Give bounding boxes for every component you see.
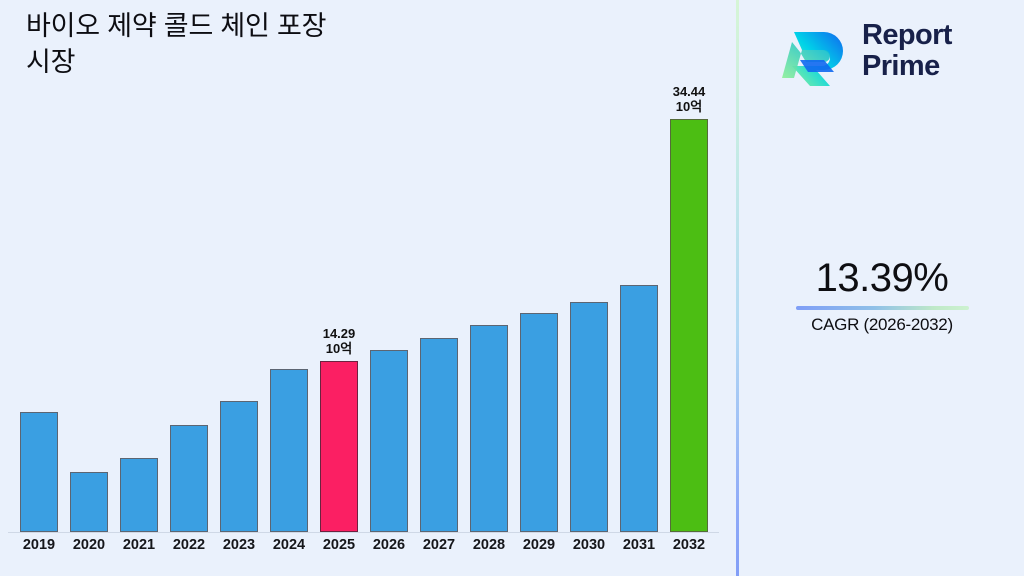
bar-rect-2025[interactable] (320, 361, 358, 532)
bar-2031[interactable] (620, 100, 658, 532)
bar-2027[interactable] (420, 100, 458, 532)
bar-rect-2031[interactable] (620, 285, 658, 532)
bar-2020[interactable] (70, 100, 108, 532)
x-tick-2029: 2029 (514, 537, 564, 553)
plot-area: 14.29 10억34.44 10억 (0, 100, 737, 533)
cagr-divider-rule (796, 306, 969, 310)
bar-rect-2029[interactable] (520, 313, 558, 532)
bar-2021[interactable] (120, 100, 158, 532)
bar-rect-2023[interactable] (220, 401, 258, 532)
x-tick-2019: 2019 (14, 537, 64, 553)
bar-rect-2030[interactable] (570, 302, 608, 532)
bar-2028[interactable] (470, 100, 508, 532)
brand-name: Report Prime (862, 20, 1012, 82)
chart-region: 바이오 제약 콜드 체인 포장 시장 14.29 10억34.44 10억 20… (0, 0, 737, 576)
x-tick-2020: 2020 (64, 537, 114, 553)
x-tick-2026: 2026 (364, 537, 414, 553)
bar-2032[interactable]: 34.44 10억 (670, 100, 708, 532)
page-title: 바이오 제약 콜드 체인 포장 시장 (26, 8, 666, 80)
x-tick-2025: 2025 (314, 537, 364, 553)
right-panel: Report Prime 13.39% CAGR (2026-2032) (740, 0, 1024, 576)
bar-2022[interactable] (170, 100, 208, 532)
x-tick-2030: 2030 (564, 537, 614, 553)
bar-rect-2019[interactable] (20, 412, 58, 532)
brand-name-line2: Prime (862, 50, 940, 82)
bar-2023[interactable] (220, 100, 258, 532)
brand-logo: Report Prime (780, 16, 1010, 94)
x-tick-2024: 2024 (264, 537, 314, 553)
brand-name-line1: Report (862, 19, 952, 51)
bar-2019[interactable] (20, 100, 58, 532)
x-tick-2032: 2032 (664, 537, 714, 553)
report-prime-logo-icon (780, 20, 852, 90)
bar-2029[interactable] (520, 100, 558, 532)
x-tick-2022: 2022 (164, 537, 214, 553)
bar-2024[interactable] (270, 100, 308, 532)
bar-rect-2024[interactable] (270, 369, 308, 532)
bar-rect-2020[interactable] (70, 472, 108, 532)
cagr-block: 13.39% CAGR (2026-2032) (740, 255, 1024, 336)
bar-rect-2028[interactable] (470, 325, 508, 532)
bar-rect-2026[interactable] (370, 350, 408, 532)
bar-value-label-2025: 14.29 10억 (304, 326, 374, 356)
x-tick-2028: 2028 (464, 537, 514, 553)
bar-rect-2022[interactable] (170, 425, 208, 532)
bar-rect-2032[interactable] (670, 119, 708, 532)
cagr-caption: CAGR (2026-2032) (740, 314, 1024, 336)
bar-2030[interactable] (570, 100, 608, 532)
bar-2026[interactable] (370, 100, 408, 532)
x-axis-line (8, 532, 719, 533)
x-tick-2021: 2021 (114, 537, 164, 553)
x-tick-2031: 2031 (614, 537, 664, 553)
bar-2025[interactable]: 14.29 10억 (320, 100, 358, 532)
bar-rect-2021[interactable] (120, 458, 158, 532)
bar-value-label-2032: 34.44 10억 (654, 84, 724, 114)
bar-rect-2027[interactable] (420, 338, 458, 532)
x-axis-tick-labels: 2019202020212022202320242025202620272028… (20, 537, 712, 565)
x-tick-2027: 2027 (414, 537, 464, 553)
vertical-divider (736, 0, 739, 576)
bar-series: 14.29 10억34.44 10억 (20, 100, 712, 532)
x-tick-2023: 2023 (214, 537, 264, 553)
cagr-value: 13.39% (740, 255, 1024, 301)
screenshot-root: 바이오 제약 콜드 체인 포장 시장 14.29 10억34.44 10억 20… (0, 0, 1024, 576)
